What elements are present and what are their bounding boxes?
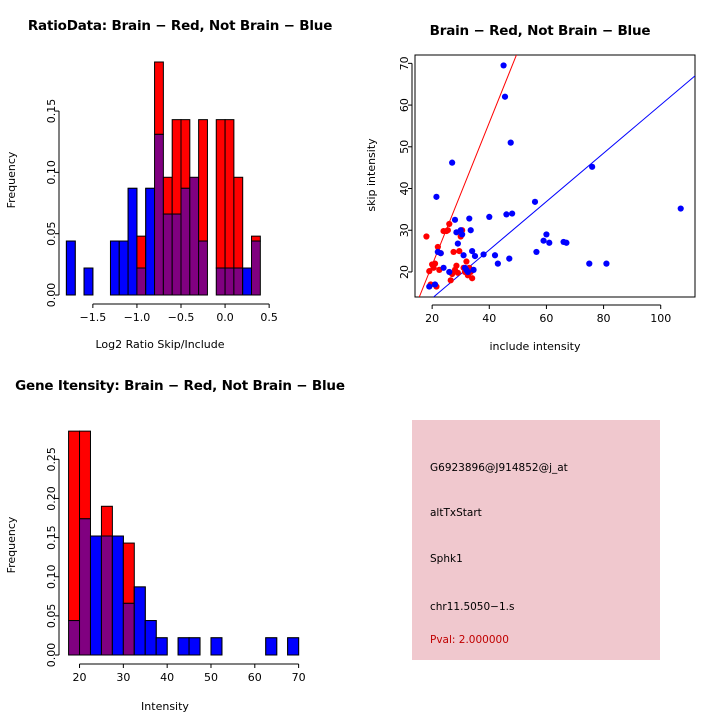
histogram-bar (155, 134, 164, 295)
histogram-bar (134, 587, 145, 655)
coordinates-text: chr11.5050−1.s (430, 601, 514, 613)
histogram-bar (123, 603, 134, 655)
gene-x-axis-tick-label: 40 (160, 671, 174, 684)
gene-y-axis-tick-label: 0.05 (45, 604, 58, 629)
histogram-bar (216, 268, 225, 295)
ratio-y-axis-label: Frequency (5, 151, 18, 208)
scatter-fit-lines (419, 55, 695, 297)
scatter-point (455, 240, 461, 246)
histogram-bar (190, 177, 199, 295)
histogram-bar (101, 506, 112, 536)
histogram-bar (211, 638, 222, 655)
gene-x-axis-tick-label: 50 (204, 671, 218, 684)
scatter-point (495, 261, 501, 267)
histogram-bar (66, 241, 75, 295)
scatter-point (453, 263, 459, 269)
gene-symbol-text: Sphk1 (430, 553, 463, 565)
scatter-point (432, 261, 438, 267)
gene-x-axis-label: Intensity (141, 700, 189, 713)
scatter-point (586, 261, 592, 267)
histogram-bar (90, 536, 101, 655)
histogram-bar (128, 188, 137, 295)
histogram-bar (163, 214, 172, 295)
histogram-bar (225, 268, 234, 295)
gene-y-axis-tick-label: 0.10 (45, 564, 58, 589)
histogram-bar (80, 519, 91, 655)
scatter-point (450, 249, 456, 255)
histogram-bar (181, 188, 190, 295)
scatter-point (678, 205, 684, 211)
ratio-histogram-panel: RatioData: Brain − Red, Not Brain − Blue… (0, 0, 360, 360)
gene-y-axis-tick-label: 0.25 (45, 447, 58, 472)
scatter-point (452, 217, 458, 223)
scatter-y-axis-tick-label: 20 (398, 265, 411, 279)
event-type-text: altTxStart (430, 507, 482, 519)
scatter-point (480, 251, 486, 257)
scatter-point (589, 164, 595, 170)
scatter-x-axis-tick-label: 60 (539, 312, 553, 325)
scatter-point (486, 214, 492, 220)
histogram-bar (146, 188, 155, 295)
ratio-x-axis-tick-label: −0.5 (168, 311, 195, 324)
scatter-y-axis-label: skip intensity (365, 138, 378, 212)
ratio-x-axis-tick-label: 0.5 (260, 311, 278, 324)
gene-y-axis-tick-label: 0.20 (45, 486, 58, 511)
histogram-bar (145, 621, 156, 655)
scatter-point (432, 281, 438, 287)
intensity-scatter-plot: 20304050607020406080100 include intensit… (360, 0, 720, 360)
scatter-point (469, 275, 475, 281)
histogram-bar (137, 268, 146, 295)
scatter-point (445, 227, 451, 233)
ratio-y-axis-tick-label: 0.15 (45, 99, 58, 124)
histogram-bar (181, 120, 190, 189)
scatter-point (423, 233, 429, 239)
scatter-y-axis-tick-label: 40 (398, 182, 411, 196)
histogram-bar (266, 638, 277, 655)
histogram-bar (243, 268, 252, 295)
histogram-bar (80, 431, 91, 519)
scatter-x-axis-tick-label: 100 (650, 312, 671, 325)
gene-x-axis-tick-label: 20 (73, 671, 87, 684)
histogram-bar (199, 241, 208, 295)
scatter-point (563, 240, 569, 246)
scatter-y-axis-tick-label: 30 (398, 223, 411, 237)
histogram-bar (199, 120, 208, 241)
scatter-point (460, 252, 466, 258)
scatter-point (433, 194, 439, 200)
histogram-bar (178, 638, 189, 655)
ratio-x-axis-tick-label: 0.0 (216, 311, 234, 324)
plot-page: RatioData: Brain − Red, Not Brain − Blue… (0, 0, 720, 720)
scatter-point (503, 211, 509, 217)
scatter-y-axis-tick-label: 50 (398, 140, 411, 154)
scatter-point (448, 277, 454, 283)
scatter-point (455, 270, 461, 276)
histogram-bar (252, 236, 261, 241)
scatter-x-axis-tick-label: 20 (425, 312, 439, 325)
scatter-x-axis-tick-label: 80 (597, 312, 611, 325)
scatter-point (502, 94, 508, 100)
histogram-bar (252, 241, 261, 295)
histogram-bar (137, 236, 146, 268)
scatter-axes: 20304050607020406080100 (398, 56, 671, 325)
scatter-plot-frame (415, 55, 695, 297)
histogram-bar (69, 431, 80, 620)
scatter-point (532, 199, 538, 205)
histogram-bar (189, 638, 200, 655)
histogram-bar (156, 638, 167, 655)
not-brain-fit-line (434, 76, 695, 297)
histogram-bar (101, 536, 112, 655)
gene-y-axis-tick-label: 0.15 (45, 525, 58, 550)
gene-histogram-plot: 0.000.050.100.150.200.25203040506070 Int… (0, 360, 360, 720)
scatter-point (468, 227, 474, 233)
ratio-y-axis-tick-label: 0.05 (45, 221, 58, 246)
gene-x-axis-tick-label: 70 (292, 671, 306, 684)
scatter-point (533, 249, 539, 255)
histogram-bar (123, 543, 134, 603)
scatter-point (465, 269, 471, 275)
histogram-bar (172, 120, 181, 214)
histogram-bar (216, 120, 225, 268)
ratio-x-axis-tick-label: −1.5 (79, 311, 106, 324)
probe-id-text: G6923896@J914852@j_at (430, 462, 568, 474)
histogram-bar (288, 638, 299, 655)
gene-intensity-histogram-panel: Gene Itensity: Brain − Red, Not Brain − … (0, 360, 360, 720)
scatter-y-axis-tick-label: 60 (398, 98, 411, 112)
gene-info-box: G6923896@J914852@j_at altTxStart Sphk1 c… (412, 420, 660, 660)
ratio-x-axis-tick-label: −1.0 (124, 311, 151, 324)
scatter-point (603, 261, 609, 267)
scatter-point (500, 62, 506, 68)
scatter-point (470, 267, 476, 273)
histogram-bar (225, 120, 234, 268)
histogram-bar (69, 621, 80, 655)
scatter-point (463, 258, 469, 264)
histogram-bar (155, 62, 164, 134)
ratio-histogram-plot: 0.000.050.100.15−1.5−1.0−0.50.00.5 Log2 … (0, 0, 360, 360)
scatter-point (438, 250, 444, 256)
scatter-point (492, 252, 498, 258)
scatter-point (449, 160, 455, 166)
scatter-point (466, 215, 472, 221)
gene-x-axis-tick-label: 30 (116, 671, 130, 684)
histogram-bar (110, 241, 119, 295)
scatter-point (440, 265, 446, 271)
histogram-bar (84, 268, 93, 295)
scatter-point (508, 140, 514, 146)
scatter-point (509, 210, 515, 216)
histogram-bar (172, 214, 181, 295)
ratio-y-axis-tick-label: 0.10 (45, 160, 58, 185)
scatter-points (423, 62, 683, 289)
scatter-point (543, 231, 549, 237)
scatter-y-axis-tick-label: 70 (398, 56, 411, 70)
ratio-x-axis-label: Log2 Ratio Skip/Include (95, 338, 224, 351)
scatter-point (540, 238, 546, 244)
histogram-bar (112, 536, 123, 655)
ratio-y-axis-tick-label: 0.00 (45, 283, 58, 308)
histogram-bar (234, 268, 243, 295)
histogram-bar (234, 177, 243, 268)
histogram-bar (163, 177, 172, 214)
intensity-scatter-panel: Brain − Red, Not Brain − Blue 2030405060… (360, 0, 720, 360)
pval-text: Pval: 2.000000 (430, 634, 509, 646)
gene-info-panel: G6923896@J914852@j_at altTxStart Sphk1 c… (360, 360, 720, 720)
scatter-x-axis-tick-label: 40 (482, 312, 496, 325)
scatter-point (426, 283, 432, 289)
scatter-point (506, 256, 512, 262)
scatter-x-axis-label: include intensity (489, 340, 581, 353)
scatter-point (546, 240, 552, 246)
scatter-point (446, 269, 452, 275)
gene-y-axis-label: Frequency (5, 516, 18, 573)
gene-y-axis-tick-label: 0.00 (45, 643, 58, 668)
scatter-point (446, 221, 452, 227)
gene-x-axis-tick-label: 60 (248, 671, 262, 684)
scatter-point (472, 253, 478, 259)
scatter-point (459, 231, 465, 237)
scatter-frame (415, 55, 695, 297)
gene-histogram-bars (69, 431, 299, 655)
histogram-bar (119, 241, 128, 295)
ratio-histogram-bars (66, 62, 260, 295)
